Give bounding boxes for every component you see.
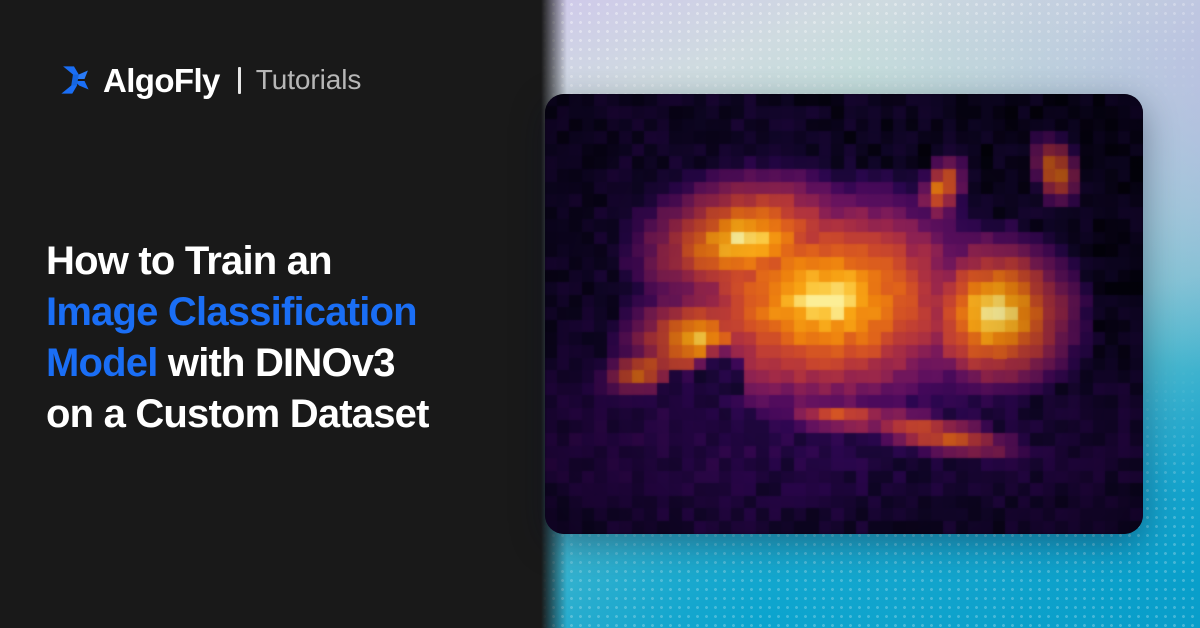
headline-line-3-rest: with DINOv3	[158, 341, 395, 385]
thermal-cat-canvas	[545, 94, 1143, 534]
thermal-cat-image	[545, 94, 1143, 534]
headline-line-1: How to Train an	[46, 236, 516, 287]
poster-canvas: AlgoFly Tutorials How to Train an Image …	[0, 0, 1200, 628]
page-title: How to Train an Image Classification Mod…	[46, 236, 516, 440]
brand-separator	[238, 67, 241, 94]
brand-subtitle: Tutorials	[256, 66, 361, 94]
headline-line-2: Image Classification	[46, 287, 516, 338]
headline-line-3: Model with DINOv3	[46, 338, 516, 389]
headline-accent-model: Model	[46, 341, 158, 385]
brand-name: AlgoFly	[103, 64, 220, 97]
headline-line-4: on a Custom Dataset	[46, 389, 516, 440]
algofly-x-logo-icon	[58, 63, 92, 97]
brand-lockup[interactable]: AlgoFly Tutorials	[58, 58, 361, 102]
